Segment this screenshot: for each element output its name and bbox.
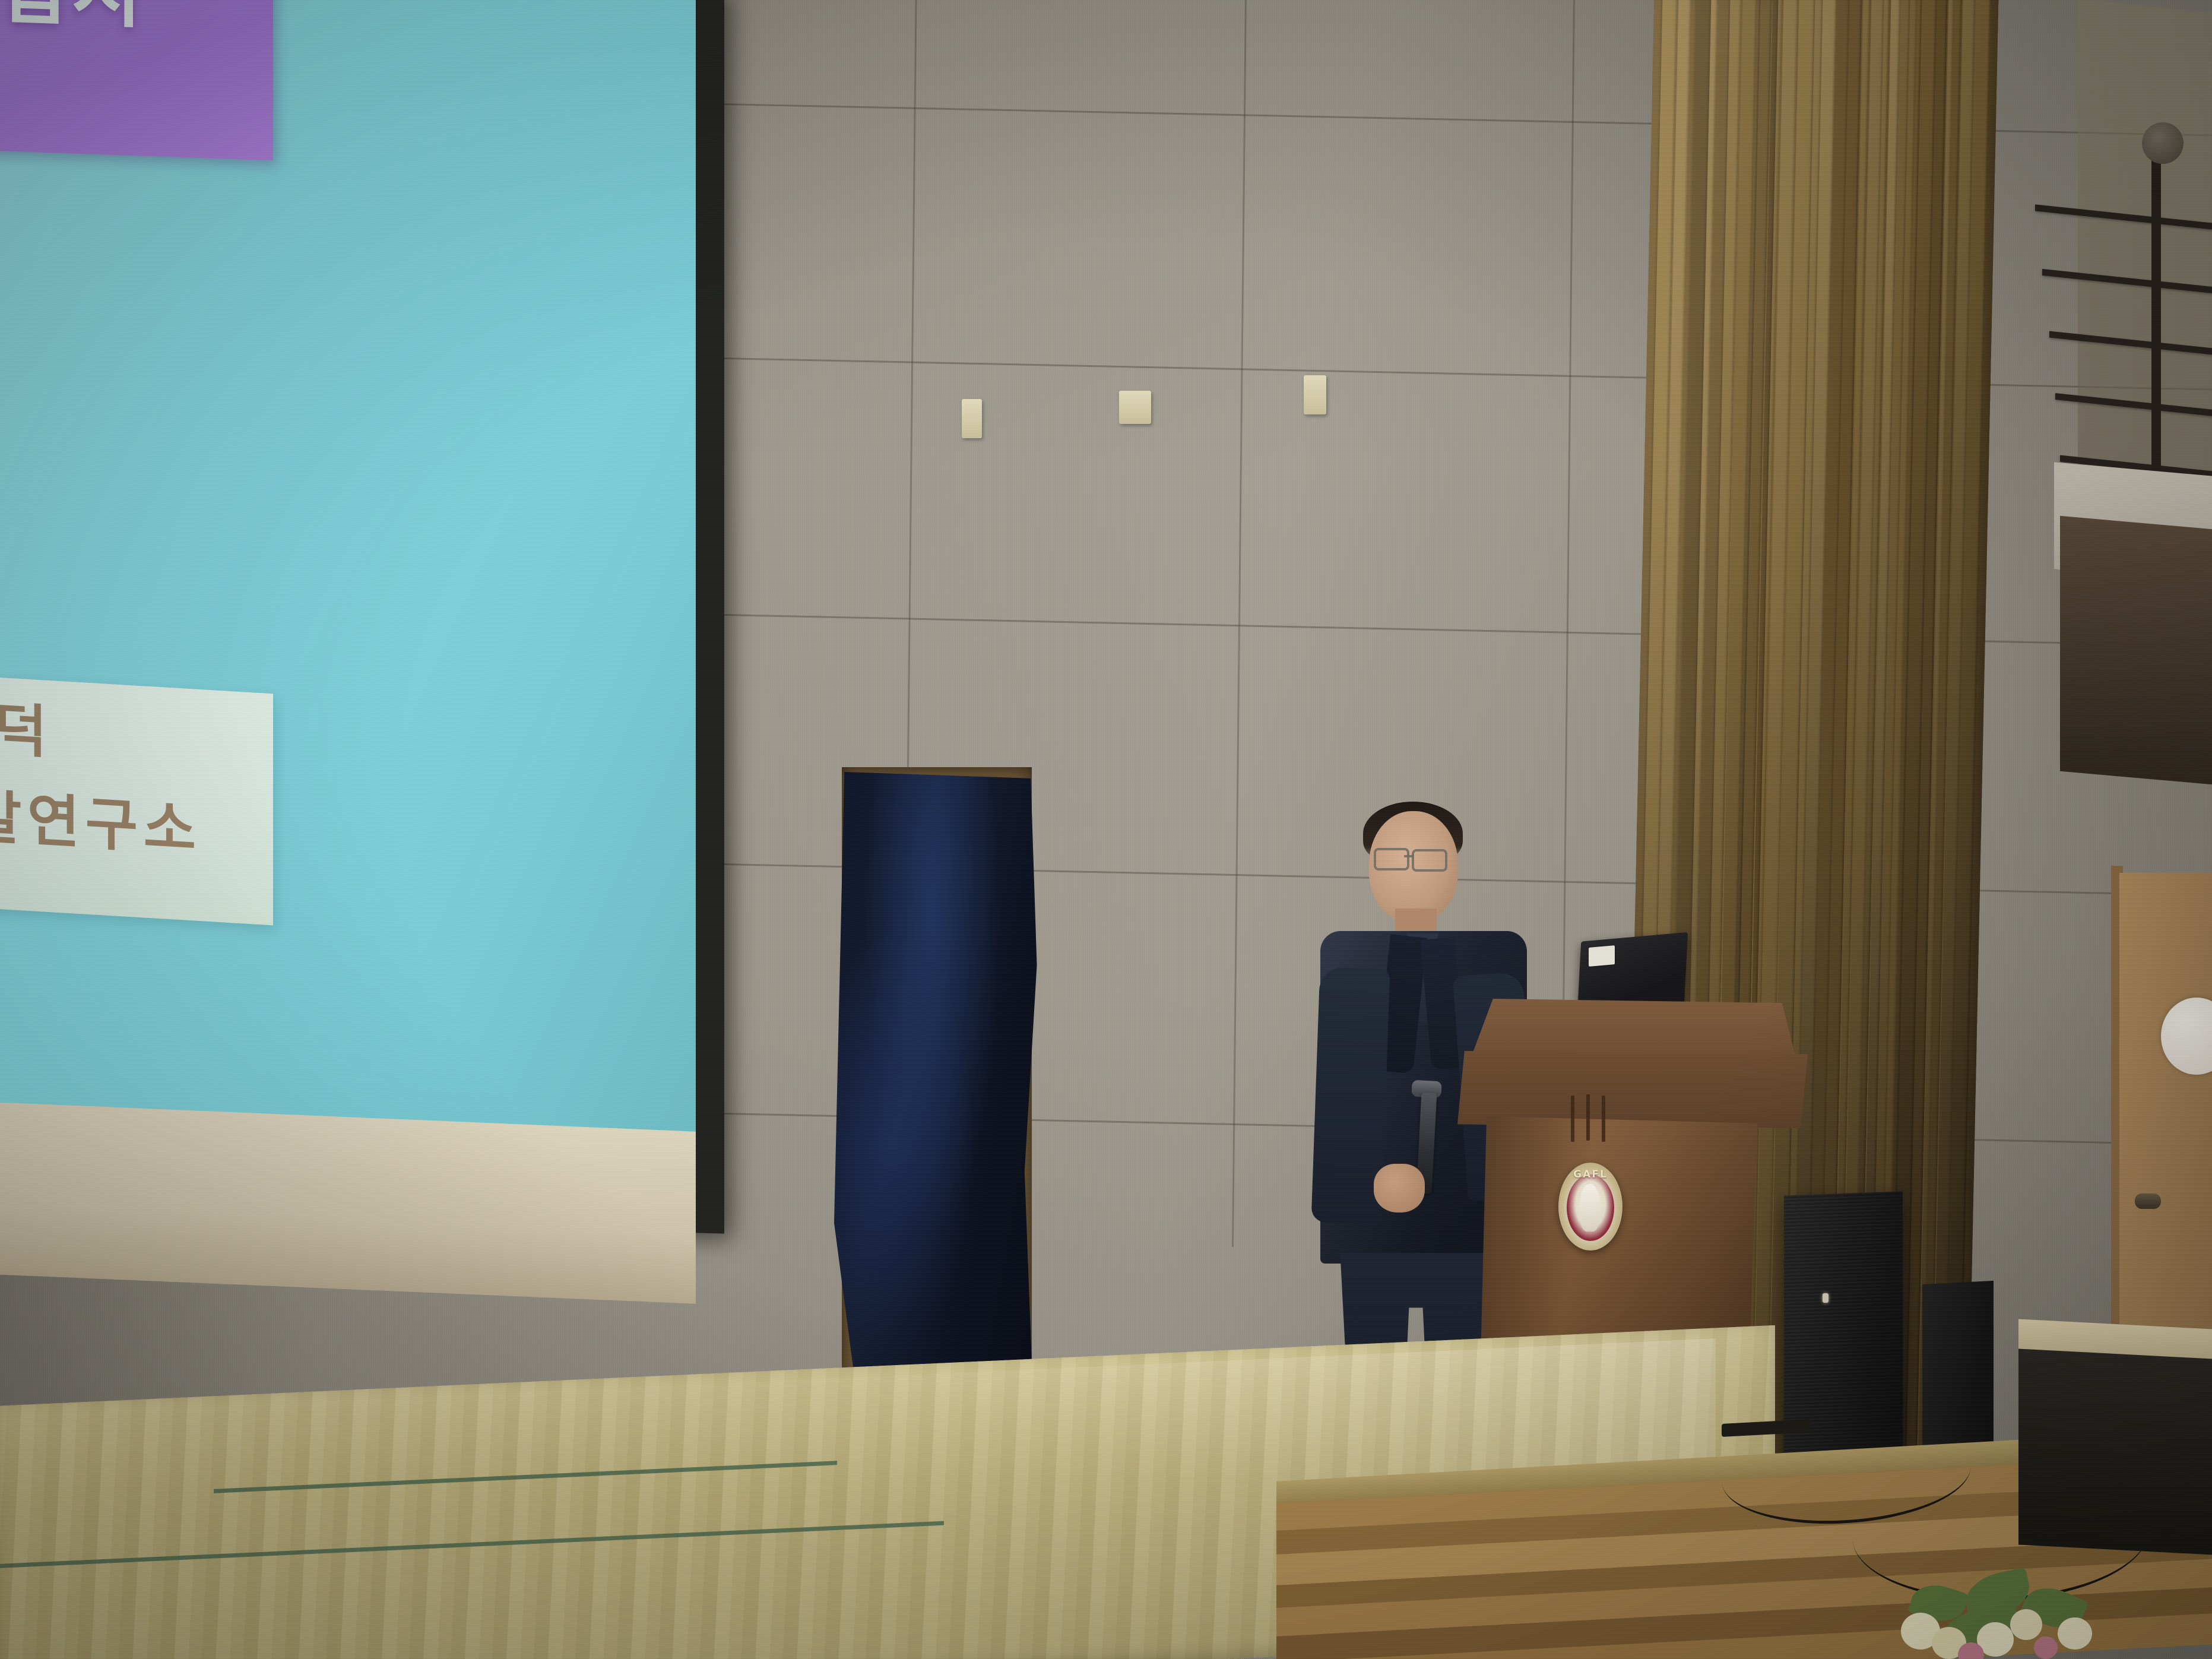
door-handle[interactable] — [2135, 1193, 2161, 1209]
wall-bracket-right — [1304, 375, 1326, 414]
side-door[interactable] — [2119, 873, 2212, 1360]
laptop-sticker — [1589, 945, 1615, 967]
navy-stage-curtain — [834, 772, 1039, 1416]
glasses-icon — [1374, 848, 1409, 870]
podium-slot — [1571, 1096, 1574, 1142]
railing-finial — [2142, 122, 2184, 164]
led-indicator-icon — [1823, 1293, 1828, 1303]
podium-slot — [1602, 1096, 1605, 1142]
slide-title-text: 학입시 책 — [0, 0, 279, 123]
lecture-hall-photo: 학입시 책 영 덕 개발연구소장) GAFL — [0, 0, 2212, 1659]
pa-speaker-cabinet — [1784, 1192, 1903, 1457]
podium-apron — [1457, 1051, 1808, 1128]
glasses-icon — [1412, 849, 1447, 872]
wood-slat — [1916, 0, 1955, 1508]
crest-figure — [1580, 1184, 1600, 1231]
screen-lower-band — [0, 1101, 696, 1304]
slide-subtitle-text: 영 덕 개발연구소장) — [0, 680, 291, 968]
podium-slot — [1586, 1094, 1590, 1141]
wood-slat — [1921, 0, 1963, 1508]
balcony-backdrop — [2078, 0, 2212, 536]
wall-bracket-middle — [1119, 391, 1151, 424]
screen-sheen — [0, 0, 696, 1168]
crest-label: GAFL — [1558, 1169, 1622, 1180]
wall-bracket-left — [962, 399, 982, 438]
projection-screen[interactable] — [0, 0, 696, 1168]
hand-right — [1416, 1167, 1466, 1215]
glasses-bridge — [1404, 855, 1414, 857]
flower-arrangement — [1888, 1568, 2137, 1659]
balcony-soffit — [2060, 516, 2212, 784]
right-dark-recess — [2018, 1348, 2212, 1554]
crest-icon: GAFL — [1558, 1163, 1622, 1250]
wood-slat — [1904, 0, 1948, 1508]
